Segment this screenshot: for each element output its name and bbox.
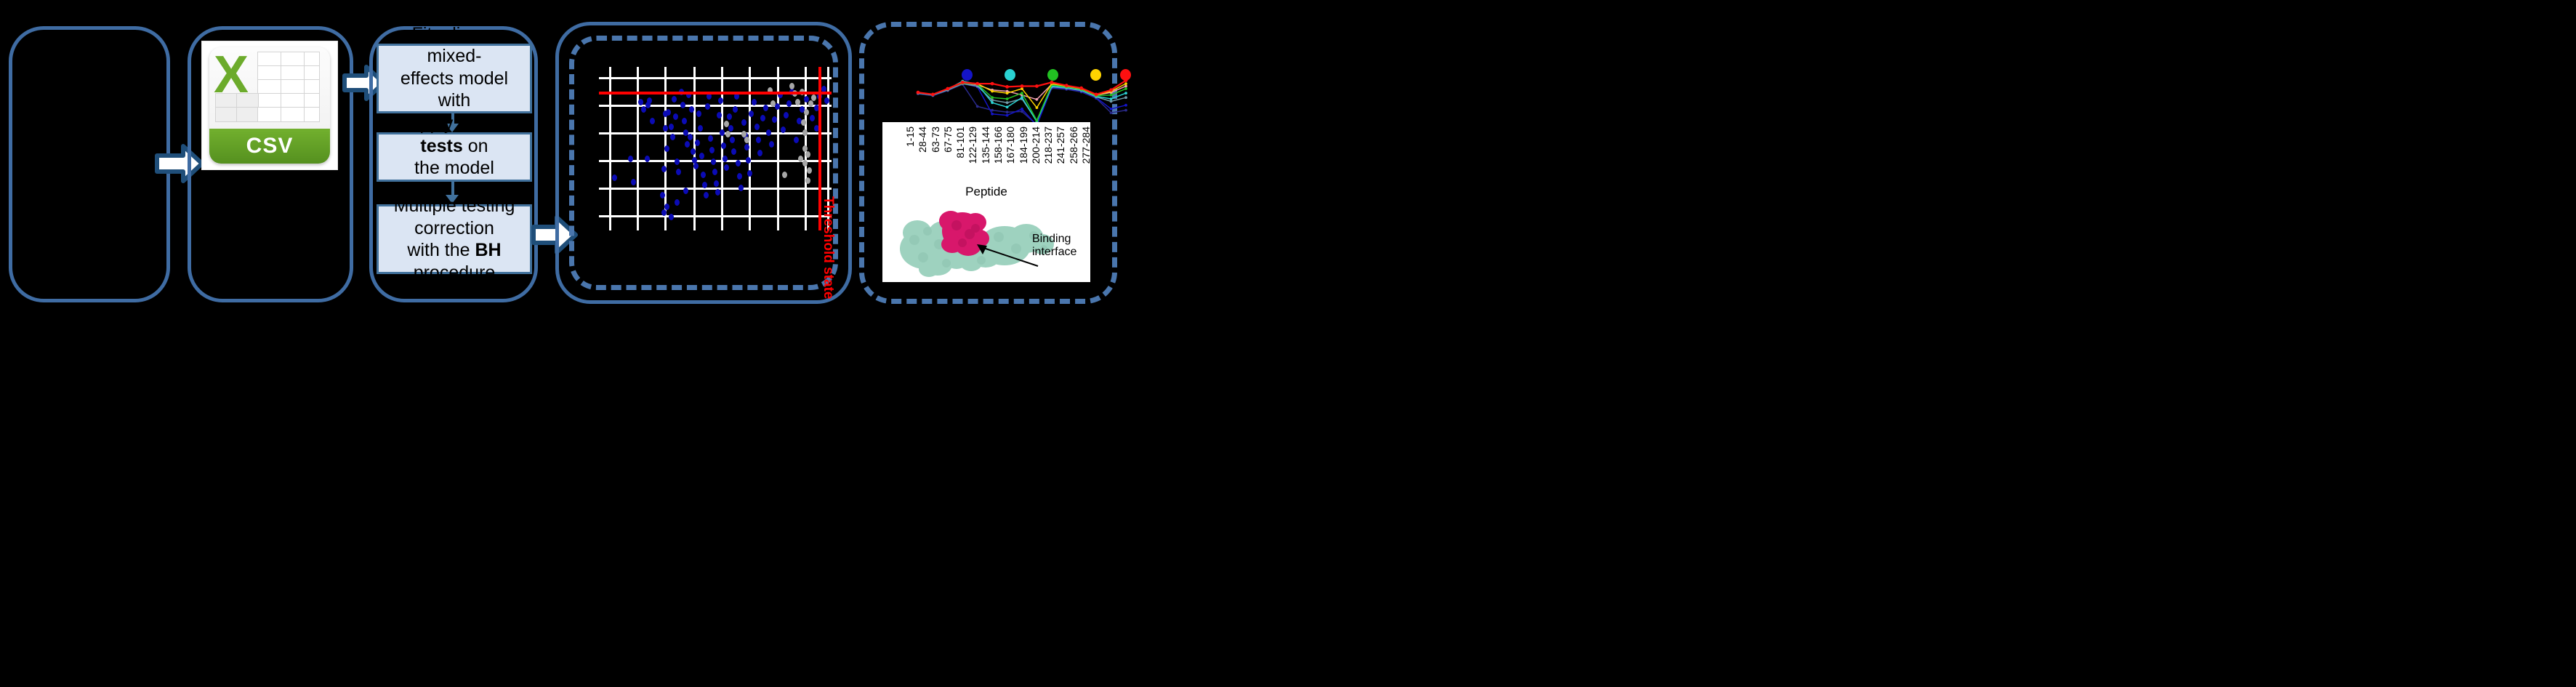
peptide-tick-1-15: 1-15: [904, 126, 916, 147]
panel-data-source: [9, 26, 170, 302]
mt-line2: correction: [414, 218, 494, 238]
point-series-green: [1006, 97, 1009, 100]
csv-label: CSV: [246, 134, 294, 158]
point-series-yellow: [991, 90, 994, 93]
point-series-red: [1095, 93, 1098, 97]
csv-label-band: CSV: [209, 129, 330, 164]
point-series-red: [1079, 87, 1083, 90]
point-series-cyan: [1110, 97, 1113, 100]
peptide-line-chart: [876, 64, 1130, 129]
peptide-tick-135-144: 135-144: [980, 126, 991, 164]
flowchart-stage: X CSV Fit a linear mixed- effects model …: [0, 0, 2576, 687]
point-series-blue: [1006, 114, 1009, 117]
mt-line3-pre: with the: [407, 240, 475, 260]
binding-interface-annotation: Binding interface: [1032, 233, 1076, 260]
point-series-red: [975, 82, 979, 86]
step-box-wald-tests[interactable]: Apply Wald tests on the model parameters: [377, 132, 532, 182]
threshold-interaction-line: [599, 92, 832, 95]
peptide-tick-158-166: 158-166: [992, 126, 1004, 164]
step-box-multiple-testing[interactable]: Multiple testing correction with the BH …: [377, 204, 532, 274]
point-series-cyan: [1124, 92, 1127, 95]
fit-model-line1: Fit a linear mixed-: [412, 24, 497, 67]
point-series-red: [1005, 85, 1009, 89]
peptide-tick-258-266: 258-266: [1068, 126, 1079, 164]
point-series-red: [1035, 84, 1039, 88]
mt-bh: BH: [475, 240, 502, 260]
point-series-cyan: [991, 101, 994, 104]
point-series-red: [946, 87, 950, 91]
peptide-tick-81-101: 81-101: [954, 126, 966, 158]
peptide-tick-277-284: 277-284: [1080, 126, 1090, 164]
point-series-green: [1110, 94, 1113, 97]
point-series-navy: [1006, 111, 1009, 113]
point-series-pink: [1036, 98, 1039, 101]
peptide-tick-167-180: 167-180: [1005, 126, 1016, 164]
point-series-cyan: [1006, 105, 1009, 108]
point-series-navy: [1110, 111, 1113, 114]
scatter-plot: [599, 67, 832, 230]
point-series-cyan: [1021, 96, 1023, 99]
point-series-red: [1065, 84, 1068, 87]
point-series-green: [991, 96, 994, 99]
point-series-blue: [1021, 108, 1023, 111]
mt-line3-post: procedure: [414, 262, 496, 283]
wald-post: on: [463, 136, 488, 156]
peptide-tick-184-199: 184-199: [1018, 126, 1029, 164]
point-series-red: [1124, 79, 1128, 82]
point-series-red: [991, 82, 994, 86]
peptide-tick-63-73: 63-73: [930, 126, 941, 153]
point-series-yellow: [1006, 92, 1009, 95]
point-series-blue: [1124, 104, 1127, 107]
point-series-green: [1124, 87, 1127, 90]
point-series-steel: [1006, 101, 1009, 104]
protein-figure: 1-1528-4463-7367-7581-101122-129135-1441…: [882, 122, 1090, 282]
fit-model-line2: effects model with: [401, 68, 508, 111]
point-series-red: [1021, 84, 1024, 88]
point-series-green: [1036, 119, 1039, 122]
peptide-axis-title: Peptide: [882, 185, 1090, 199]
point-series-red: [931, 93, 935, 97]
point-series-blue: [1110, 108, 1113, 111]
point-series-blue: [991, 113, 994, 116]
threshold-state-label: Threshold state: [820, 196, 836, 299]
binding-interface-line2: interface: [1032, 246, 1076, 259]
csv-file-icon: X CSV: [202, 41, 337, 169]
point-series-pink: [1124, 85, 1127, 88]
peptide-axis-ticks: 1-1528-4463-7367-7581-101122-129135-1441…: [882, 125, 1090, 183]
peptide-tick-122-129: 122-129: [967, 126, 978, 164]
excel-x-mark: X: [214, 49, 249, 101]
peptide-tick-241-257: 241-257: [1055, 126, 1066, 164]
point-series-navy: [976, 105, 979, 108]
wald-pre: Apply: [408, 113, 458, 134]
binding-interface-line1: Binding: [1032, 233, 1076, 246]
point-series-red: [1109, 88, 1113, 92]
point-series-red: [961, 81, 965, 84]
point-series-yellow: [1036, 106, 1039, 109]
point-series-navy: [1124, 109, 1127, 112]
csv-badge: X CSV: [209, 47, 330, 164]
peptide-tick-28-44: 28-44: [917, 126, 928, 153]
line-series-navy: [918, 84, 1126, 125]
point-series-green: [1021, 92, 1023, 95]
point-series-red: [917, 91, 920, 95]
point-series-yellow: [1124, 82, 1127, 85]
peptide-tick-200-214: 200-214: [1030, 126, 1042, 164]
point-series-steel: [1110, 100, 1113, 103]
peptide-tick-218-237: 218-237: [1042, 126, 1054, 164]
step-box-fit-model[interactable]: Fit a linear mixed- effects model with R…: [377, 44, 532, 113]
point-series-red: [1050, 81, 1054, 84]
point-series-steel: [1124, 96, 1127, 99]
mt-line1: Multiple testing: [394, 196, 515, 216]
peptide-tick-67-75: 67-75: [942, 126, 954, 153]
